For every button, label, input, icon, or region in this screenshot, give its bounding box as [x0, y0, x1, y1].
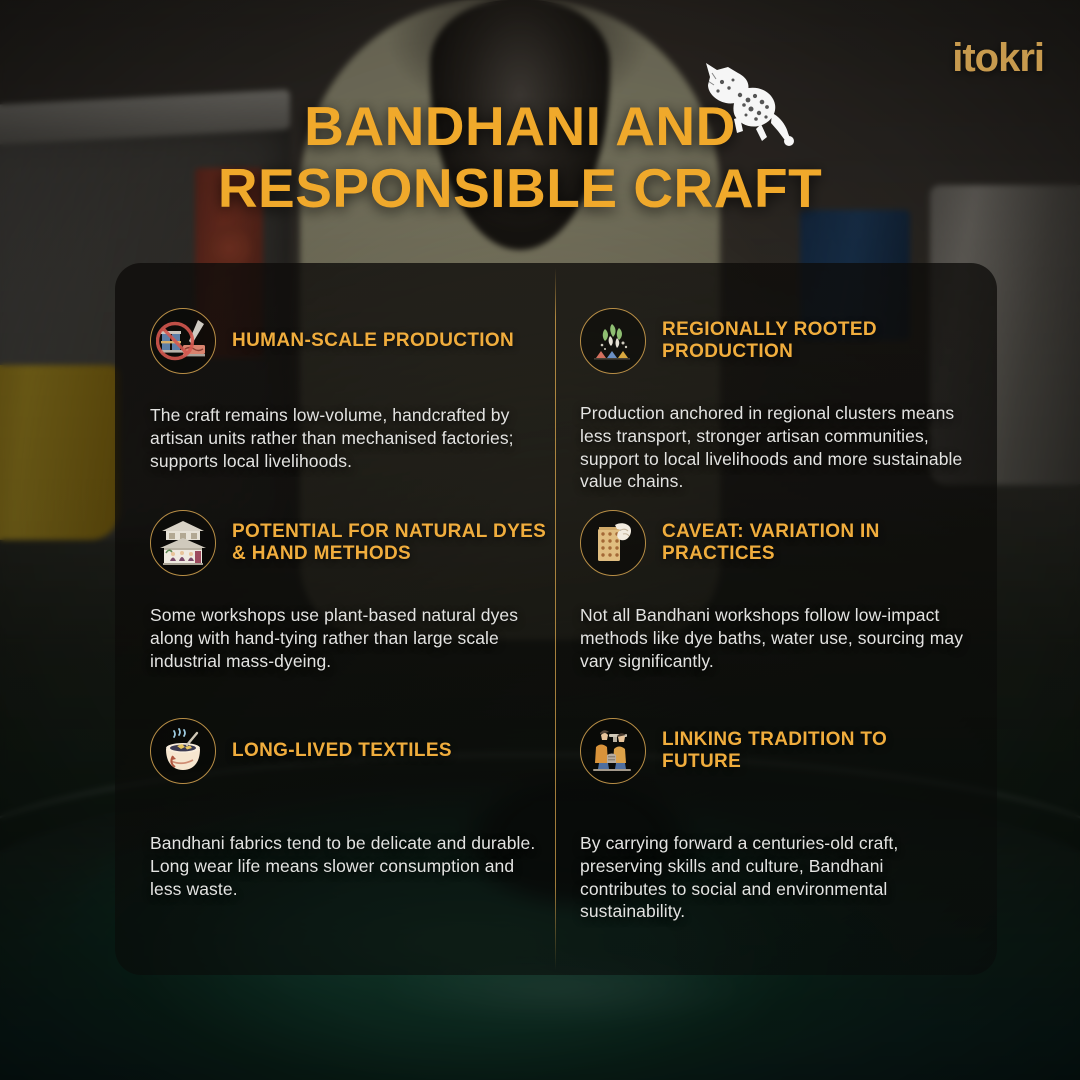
card-title: LONG-LIVED TEXTILES: [232, 740, 452, 762]
card-linking-tradition-future: LINKING TRADITION TO FUTURE By carrying …: [580, 718, 1000, 923]
no-factory-icon: [150, 308, 216, 374]
cards-grid: HUMAN-SCALE PRODUCTION The craft remains…: [115, 263, 997, 975]
card-long-lived-textiles: LONG-LIVED TEXTILES Bandhani fabrics ten…: [150, 718, 570, 900]
card-natural-dyes-hand-methods: POTENTIAL FOR NATURAL DYES & HAND METHOD…: [150, 510, 570, 672]
bandhani-cat-motif-icon: [688, 55, 796, 150]
card-body: The craft remains low-volume, handcrafte…: [150, 404, 542, 472]
card-body: Production anchored in regional clusters…: [580, 402, 972, 493]
card-title: CAVEAT: VARIATION IN PRACTICES: [662, 521, 962, 565]
hand-holding-fabric-swatch-icon: [580, 510, 646, 576]
card-human-scale-production: HUMAN-SCALE PRODUCTION The craft remains…: [150, 308, 570, 472]
card-header: CAVEAT: VARIATION IN PRACTICES: [580, 510, 1000, 576]
card-body: Some workshops use plant-based natural d…: [150, 604, 542, 672]
card-title: REGIONALLY ROOTED PRODUCTION: [662, 319, 962, 363]
card-title: LINKING TRADITION TO FUTURE: [662, 729, 962, 773]
card-header: REGIONALLY ROOTED PRODUCTION: [580, 308, 1000, 374]
brand-logo[interactable]: itokri: [952, 38, 1044, 78]
card-body: By carrying forward a centuries-old craf…: [580, 832, 972, 923]
page-title: BANDHANI AND RESPONSIBLE CRAFT: [0, 96, 1080, 219]
card-body: Not all Bandhani workshops follow low-im…: [580, 604, 972, 672]
steaming-dye-pot-icon: [150, 718, 216, 784]
page-title-line-1: BANDHANI AND: [304, 95, 736, 157]
card-header: LONG-LIVED TEXTILES: [150, 718, 570, 784]
card-header: LINKING TRADITION TO FUTURE: [580, 718, 1000, 784]
artisan-workshop-building-icon: [150, 510, 216, 576]
card-header: HUMAN-SCALE PRODUCTION: [150, 308, 570, 374]
card-body: Bandhani fabrics tend to be delicate and…: [150, 832, 542, 900]
card-header: POTENTIAL FOR NATURAL DYES & HAND METHOD…: [150, 510, 570, 576]
natural-dye-leaves-icon: [580, 308, 646, 374]
page-title-line-2: RESPONSIBLE CRAFT: [218, 157, 822, 219]
card-title: POTENTIAL FOR NATURAL DYES & HAND METHOD…: [232, 521, 547, 565]
two-artisans-icon: [580, 718, 646, 784]
brand-logo-text: itokri: [952, 36, 1044, 80]
card-caveat-variation-practices: CAVEAT: VARIATION IN PRACTICES Not all B…: [580, 510, 1000, 672]
card-regionally-rooted-production: REGIONALLY ROOTED PRODUCTION Production …: [580, 308, 1000, 493]
card-title: HUMAN-SCALE PRODUCTION: [232, 330, 514, 352]
header: BANDHANI AND RESPONSIBLE CRAFT itokri: [0, 0, 1080, 250]
